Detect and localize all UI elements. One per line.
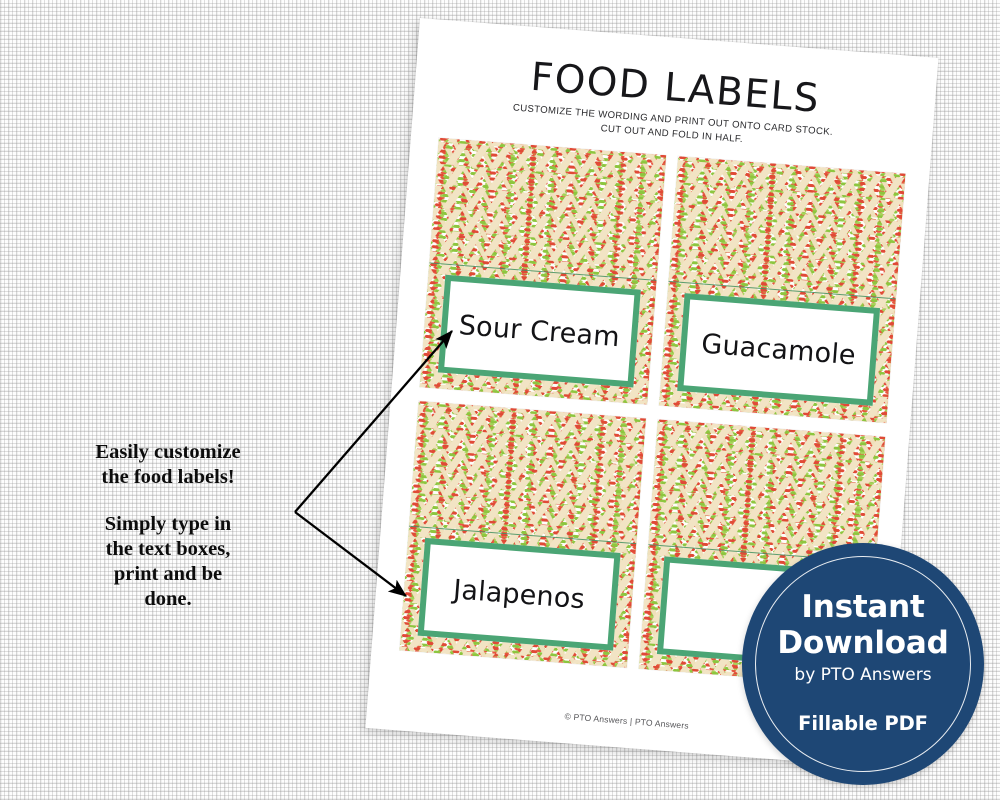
annotation-block-2: Simply type in the text boxes, print and… — [58, 512, 278, 612]
annotation-block-1: Easily customize the food labels! — [58, 440, 278, 490]
annotation-line-1: Easily customize — [58, 440, 278, 465]
annotation-line-5: print and be — [58, 562, 278, 587]
label-card-top-right[interactable]: Guacamole — [659, 156, 906, 423]
label-textbox[interactable]: Sour Cream — [438, 275, 641, 388]
instant-download-badge: Instant Download by PTO Answers Fillable… — [742, 543, 984, 785]
annotation-line-4: the text boxes, — [58, 537, 278, 562]
badge-line-1: Instant — [801, 589, 924, 625]
badge-line-4: Fillable PDF — [798, 712, 928, 735]
label-text: Guacamole — [700, 328, 857, 371]
label-textbox[interactable]: Jalapenos — [418, 538, 621, 651]
annotation-line-6: done. — [58, 587, 278, 612]
annotation-line-2: the food labels! — [58, 465, 278, 490]
label-text: Jalapenos — [452, 574, 586, 615]
annotation-line-3: Simply type in — [58, 512, 278, 537]
label-text: Sour Cream — [458, 309, 621, 352]
annotation-text: Easily customize the food labels! Simply… — [58, 440, 278, 612]
badge-line-3: by PTO Answers — [794, 664, 931, 686]
label-textbox[interactable]: Guacamole — [677, 293, 880, 406]
label-card-bottom-left[interactable]: Jalapenos — [399, 401, 646, 668]
badge-line-2: Download — [777, 625, 948, 661]
label-card-top-left[interactable]: Sour Cream — [420, 138, 667, 405]
